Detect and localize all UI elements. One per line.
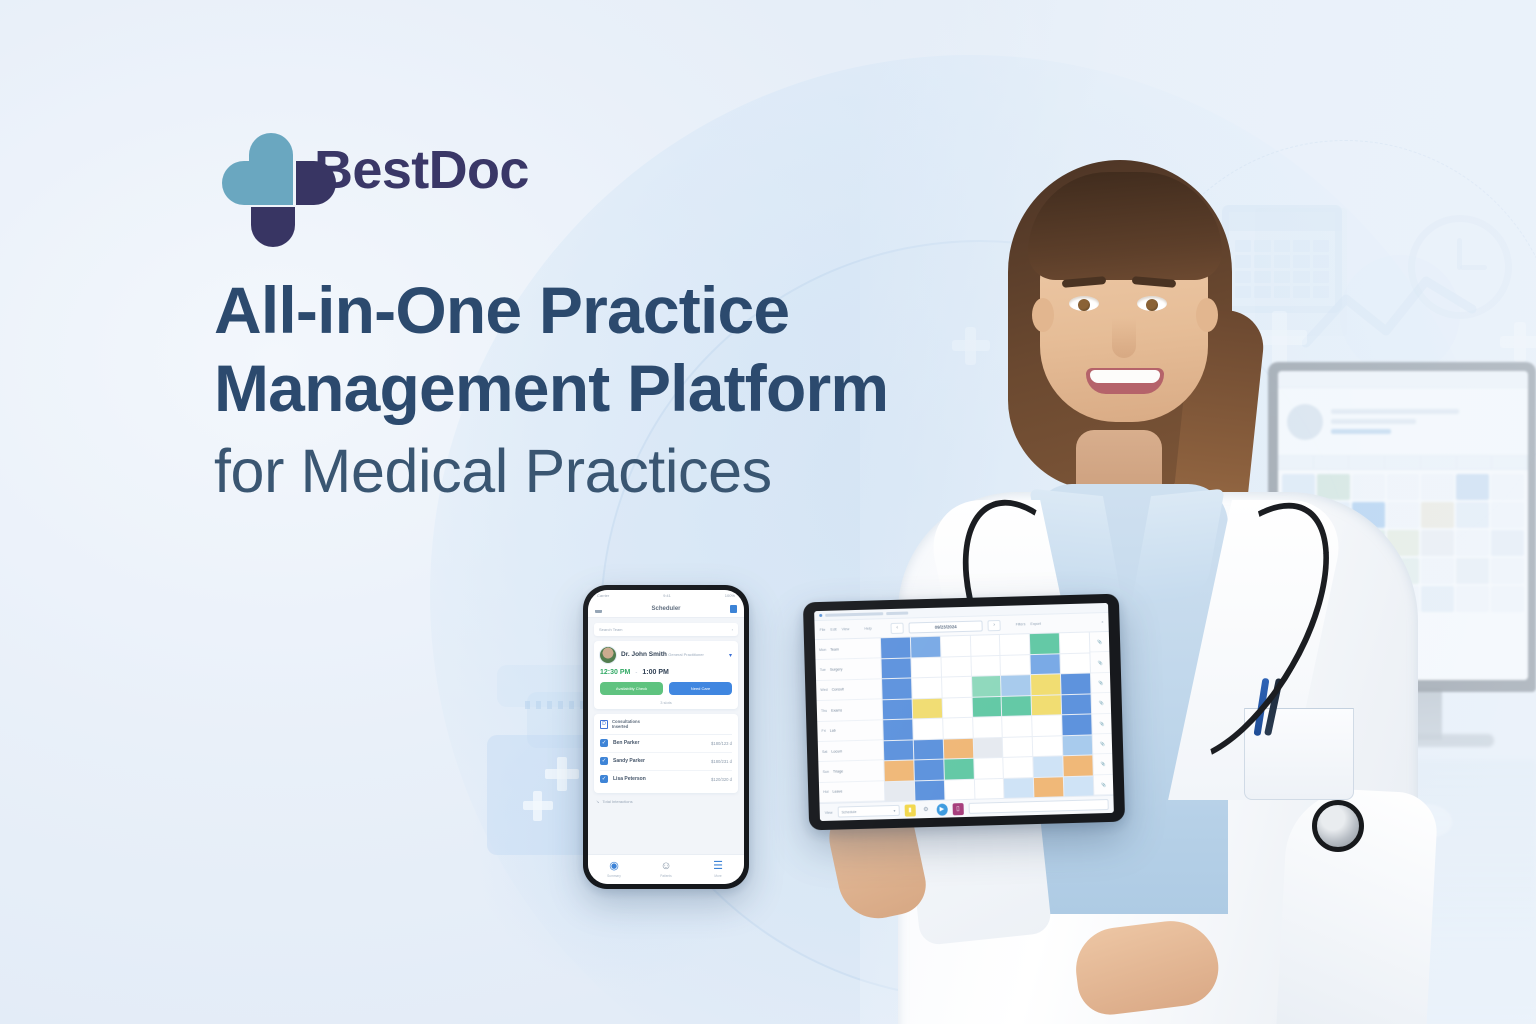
attachment-icon[interactable]: 📎 (1090, 632, 1110, 653)
appointment-cell[interactable] (1034, 777, 1063, 797)
chevron-right-icon: › (732, 627, 733, 632)
checkbox[interactable]: ✓ (600, 775, 608, 783)
consultation-list: D Consultations Inserted ✓ Ben Parker $1… (594, 714, 738, 793)
settings-icon[interactable]: ⚙ (920, 803, 931, 815)
appointment-cell[interactable] (1034, 756, 1063, 776)
list-header: D Consultations Inserted (600, 719, 732, 735)
headline-line-1: All-in-One Practice (214, 272, 1014, 350)
appointment-cell[interactable] (915, 780, 944, 800)
row-day: Wed (820, 688, 827, 692)
row-dept: Locum (831, 749, 842, 753)
headline-line-3: for Medical Practices (214, 432, 1014, 510)
appointment-cell[interactable] (884, 740, 913, 760)
appointment-cell[interactable] (942, 697, 971, 717)
appointment-cell[interactable] (972, 696, 1001, 716)
row-day: Sat (822, 749, 828, 753)
appointment-cell[interactable] (1061, 673, 1090, 693)
patient-name: Sandy Parker (613, 758, 706, 764)
doctor-row: Dr. John Smith General Practitioner ▾ (600, 647, 732, 663)
patient-name: Lisa Peterson (613, 776, 706, 782)
attachment-icon[interactable]: 📎 (1090, 652, 1110, 673)
table-row: HolLeave (819, 781, 885, 803)
appointment-cell[interactable] (884, 760, 913, 780)
appointment-cell[interactable] (943, 738, 972, 758)
table-row: FriLab (817, 720, 883, 742)
table-row: TueSurgery (816, 659, 882, 681)
appointment-cell[interactable] (912, 678, 941, 698)
chart-icon[interactable] (595, 605, 602, 613)
row-dept: Leave (833, 790, 843, 794)
appointment-cell[interactable] (912, 698, 941, 718)
note-icon[interactable]: ▮ (904, 804, 915, 816)
row-day: Hol (823, 790, 829, 794)
list-header-line-1: Consultations (612, 719, 640, 724)
phone-mockup: Carrier 9:41 100% Scheduler Search Team … (583, 585, 749, 889)
appointment-cell[interactable] (1064, 776, 1093, 796)
appointment-cell[interactable] (944, 759, 973, 779)
appointment-cell[interactable] (1030, 633, 1059, 653)
status-battery: 100% (725, 593, 735, 598)
patient-name: Ben Parker (613, 740, 706, 746)
filters-button[interactable]: Filters (1016, 622, 1026, 626)
row-dept: Triage (833, 769, 843, 773)
time-separator: - (635, 670, 637, 676)
footnote-text: Total Interactions (602, 799, 632, 804)
appointment-cell[interactable] (881, 637, 910, 657)
attachment-icon[interactable]: 📎 (1091, 673, 1111, 694)
tab-patients[interactable]: ☺ Patients (640, 861, 692, 878)
appointment-cell[interactable] (911, 637, 940, 657)
plus-icon (1500, 336, 1536, 348)
tab-more[interactable]: ☰ More (692, 861, 744, 878)
appointment-cell[interactable] (1063, 735, 1092, 755)
calendar-icon[interactable] (730, 605, 737, 613)
appointment-cell[interactable] (972, 676, 1001, 696)
row-day: Thu (821, 709, 827, 713)
patient-value: $180/123 d (711, 741, 732, 746)
row-day: Mon (819, 648, 826, 652)
appointment-cell[interactable] (1004, 757, 1033, 777)
appointment-cell[interactable] (973, 717, 1002, 737)
appointment-cell[interactable] (1003, 716, 1032, 736)
phone-screen: Carrier 9:41 100% Scheduler Search Team … (588, 590, 744, 884)
ear (1032, 298, 1054, 332)
list-header-line-2: Inserted (612, 724, 628, 729)
menu-view[interactable]: View (842, 627, 850, 631)
attachment-icon[interactable]: 📎 (1092, 693, 1112, 714)
next-button[interactable]: › (988, 619, 1001, 630)
list-item[interactable]: ✓ Sandy Parker $180/231 d (600, 753, 732, 771)
appointment-cell[interactable] (971, 655, 1000, 675)
document-icon: D (600, 720, 608, 729)
appointment-cell[interactable] (942, 677, 971, 697)
time-range: 12:30 PM - 1:00 PM (600, 669, 732, 676)
list-item[interactable]: ✓ Ben Parker $180/123 d (600, 735, 732, 753)
headline-block: All-in-One Practice Management Platform … (214, 272, 1014, 510)
person-icon: ☺ (660, 860, 671, 872)
appointment-cells[interactable] (881, 632, 1093, 801)
menu-file[interactable]: File (820, 628, 826, 632)
doctor-specialty: General Practitioner (668, 652, 704, 657)
table-row: SatLocum (818, 740, 884, 762)
appointment-cell[interactable] (882, 678, 911, 698)
row-dept: Exams (831, 708, 842, 712)
row-dept: Surgery (830, 667, 843, 671)
prev-button[interactable]: ‹ (891, 622, 904, 633)
appointment-cell[interactable] (914, 760, 943, 780)
list-header-text: Consultations Inserted (612, 719, 640, 730)
status-bar: Carrier 9:41 100% (588, 590, 744, 601)
appointment-cell[interactable] (1060, 632, 1089, 652)
row-day: Fri (821, 729, 825, 733)
iris (1078, 299, 1090, 311)
menu-help[interactable]: Help (864, 627, 872, 631)
plus-icon (533, 791, 542, 821)
trend-icon: ↘ (596, 799, 599, 804)
patient-value: $120/320 d (711, 777, 732, 782)
attachment-icon[interactable]: 📎 (1093, 754, 1113, 775)
doctor-name: Dr. John Smith (621, 651, 667, 658)
iris (1146, 299, 1158, 311)
chevron-down-icon[interactable]: ▾ (729, 652, 732, 659)
time-end: 1:00 PM (642, 669, 668, 676)
nose (1112, 318, 1136, 358)
close-icon[interactable]: × (1101, 620, 1103, 624)
status-time: 9:41 (663, 593, 671, 598)
checkbox[interactable]: ✓ (600, 757, 608, 765)
bottom-tabbar: ◉ Summary ☺ Patients ☰ More (588, 854, 744, 884)
appointment-cell[interactable] (941, 636, 970, 656)
appointment-cell[interactable] (970, 635, 999, 655)
card-actions: Availability Check Need Care (600, 682, 732, 695)
appointment-cell[interactable] (883, 719, 912, 739)
appointment-cell[interactable] (1062, 714, 1091, 734)
plus-icon (557, 757, 567, 791)
row-dept: Lab (830, 729, 836, 733)
tab-label: Patients (640, 874, 692, 878)
row-day: Tue (820, 668, 826, 672)
checkbox[interactable]: ✓ (600, 739, 608, 747)
appointment-cell[interactable] (881, 658, 910, 678)
need-care-button[interactable]: Need Care (669, 682, 732, 695)
appointment-cell[interactable] (941, 656, 970, 676)
play-icon[interactable]: ▶ (936, 803, 947, 815)
attachment-icon[interactable]: 📎 (1094, 774, 1114, 795)
status-carrier: Carrier (597, 593, 609, 598)
appointment-cell[interactable] (973, 737, 1002, 757)
slot-count: 3 slots (600, 700, 732, 705)
view-label: View (825, 810, 833, 814)
export-button[interactable]: Export (1030, 622, 1040, 626)
medical-cross-icon (222, 133, 294, 207)
appointment-cell[interactable] (1031, 674, 1060, 694)
appointment-cell[interactable] (1061, 653, 1090, 673)
tablet-screen: File Edit View Help ‹ 09/23/2024 › Filte… (814, 603, 1114, 821)
headline-line-2: Management Platform (214, 350, 1014, 428)
attachment-icon[interactable]: 📎 (1093, 734, 1113, 755)
appointment-cell[interactable] (1033, 736, 1062, 756)
view-select[interactable]: Schedule ▾ (837, 805, 899, 818)
ear (1196, 298, 1218, 332)
stethoscope-chestpiece (1312, 800, 1364, 852)
table-row: WedConsult (816, 679, 882, 701)
appointment-cell[interactable] (1032, 695, 1061, 715)
search-placeholder: Search Team (599, 627, 623, 632)
row-day: Sun (823, 770, 830, 774)
tab-label: Summary (588, 874, 640, 878)
window-dot-icon (819, 614, 822, 617)
appointment-cell[interactable] (1002, 696, 1031, 716)
appointment-cell[interactable] (914, 739, 943, 759)
tablet-mockup: File Edit View Help ‹ 09/23/2024 › Filte… (803, 594, 1125, 831)
eye (1069, 296, 1099, 311)
doctor-info: Dr. John Smith General Practitioner (621, 651, 724, 658)
patient-value: $180/231 d (711, 759, 732, 764)
appointment-cell[interactable] (1001, 655, 1030, 675)
tab-label: More (692, 874, 744, 878)
doctor-card[interactable]: Dr. John Smith General Practitioner ▾ 12… (594, 641, 738, 709)
teeth (1090, 370, 1160, 383)
chevron-down-icon: ▾ (894, 808, 896, 812)
appointment-cell[interactable] (1031, 654, 1060, 674)
menu-edit[interactable]: Edit (830, 628, 836, 632)
appointment-cell[interactable] (885, 781, 914, 801)
phone-navbar: Scheduler (588, 601, 744, 618)
table-row: MonTeam (815, 638, 881, 660)
tab-summary[interactable]: ◉ Summary (588, 861, 640, 878)
page-title: Scheduler (651, 606, 680, 612)
time-start: 12:30 PM (600, 669, 630, 676)
table-row: ThuExams (817, 699, 883, 721)
brand-logo[interactable]: BestDoc (222, 133, 529, 207)
attachment-icon[interactable]: 📎 (1092, 713, 1112, 734)
appointment-cell[interactable] (974, 758, 1003, 778)
availability-button[interactable]: Availability Check (600, 682, 663, 695)
table-row: SunTriage (818, 761, 884, 783)
appointment-cell[interactable] (943, 718, 972, 738)
view-select-value: Schedule (841, 810, 856, 814)
appointment-cell[interactable] (1063, 755, 1092, 775)
brand-name: BestDoc (314, 143, 529, 197)
date-field[interactable]: 09/23/2024 (909, 620, 983, 633)
search-input[interactable] (968, 799, 1109, 814)
row-dept: Team (830, 647, 839, 651)
appointment-cell[interactable] (1003, 737, 1032, 757)
doctor-figure (880, 100, 1440, 1024)
dashboard-icon: ◉ (609, 860, 619, 872)
hero-banner: BestDoc All-in-One Practice Management P… (0, 0, 1536, 1024)
eye (1137, 296, 1167, 311)
appointment-cell[interactable] (974, 778, 1003, 798)
avatar (600, 647, 616, 663)
footnote: ↘ Total Interactions (596, 799, 736, 804)
row-dept: Consult (832, 688, 844, 692)
appointment-cell[interactable] (883, 699, 912, 719)
book-icon[interactable]: ▯ (952, 803, 963, 815)
appointment-cell[interactable] (945, 779, 974, 799)
schedule-grid: MonTeam TueSurgery WedConsult ThuExams F… (815, 632, 1113, 803)
appointment-cell[interactable] (913, 719, 942, 739)
menu-icon: ☰ (713, 860, 723, 872)
appointment-cell[interactable] (1000, 634, 1029, 654)
appointment-cell[interactable] (1032, 715, 1061, 735)
grid-row-labels: MonTeam TueSurgery WedConsult ThuExams F… (815, 638, 886, 803)
appointment-cell[interactable] (1001, 675, 1030, 695)
appointment-cell[interactable] (1062, 694, 1091, 714)
appointment-cell[interactable] (1004, 778, 1033, 798)
appointment-cell[interactable] (911, 657, 940, 677)
search-input[interactable]: Search Team › (594, 623, 738, 636)
list-item[interactable]: ✓ Lisa Peterson $120/320 d (600, 771, 732, 788)
mouth (1086, 368, 1164, 394)
